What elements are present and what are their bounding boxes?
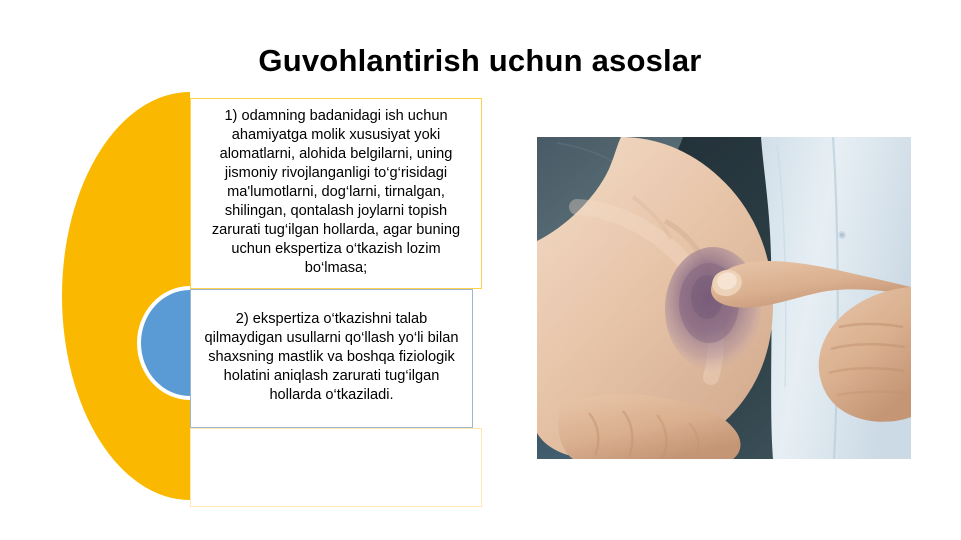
blue-half-ellipse-shape bbox=[141, 290, 190, 396]
orange-half-ellipse-shape bbox=[62, 92, 190, 500]
page-title: Guvohlantirish uchun asoslar bbox=[60, 44, 900, 78]
photo-illustration bbox=[537, 137, 911, 459]
bruised-elbow-examination-photo bbox=[537, 137, 911, 459]
content-box-3-empty[interactable] bbox=[190, 428, 482, 507]
presentation-slide: Guvohlantirish uchun asoslar 1) odamning… bbox=[0, 0, 961, 540]
blue-half-ellipse-outline bbox=[137, 286, 190, 400]
content-box-2[interactable]: 2) ekspertiza o‘tkazishni talab qilmaydi… bbox=[190, 289, 473, 428]
content-box-1[interactable]: 1) odamning badanidagi ish uchun ahamiya… bbox=[190, 98, 482, 289]
